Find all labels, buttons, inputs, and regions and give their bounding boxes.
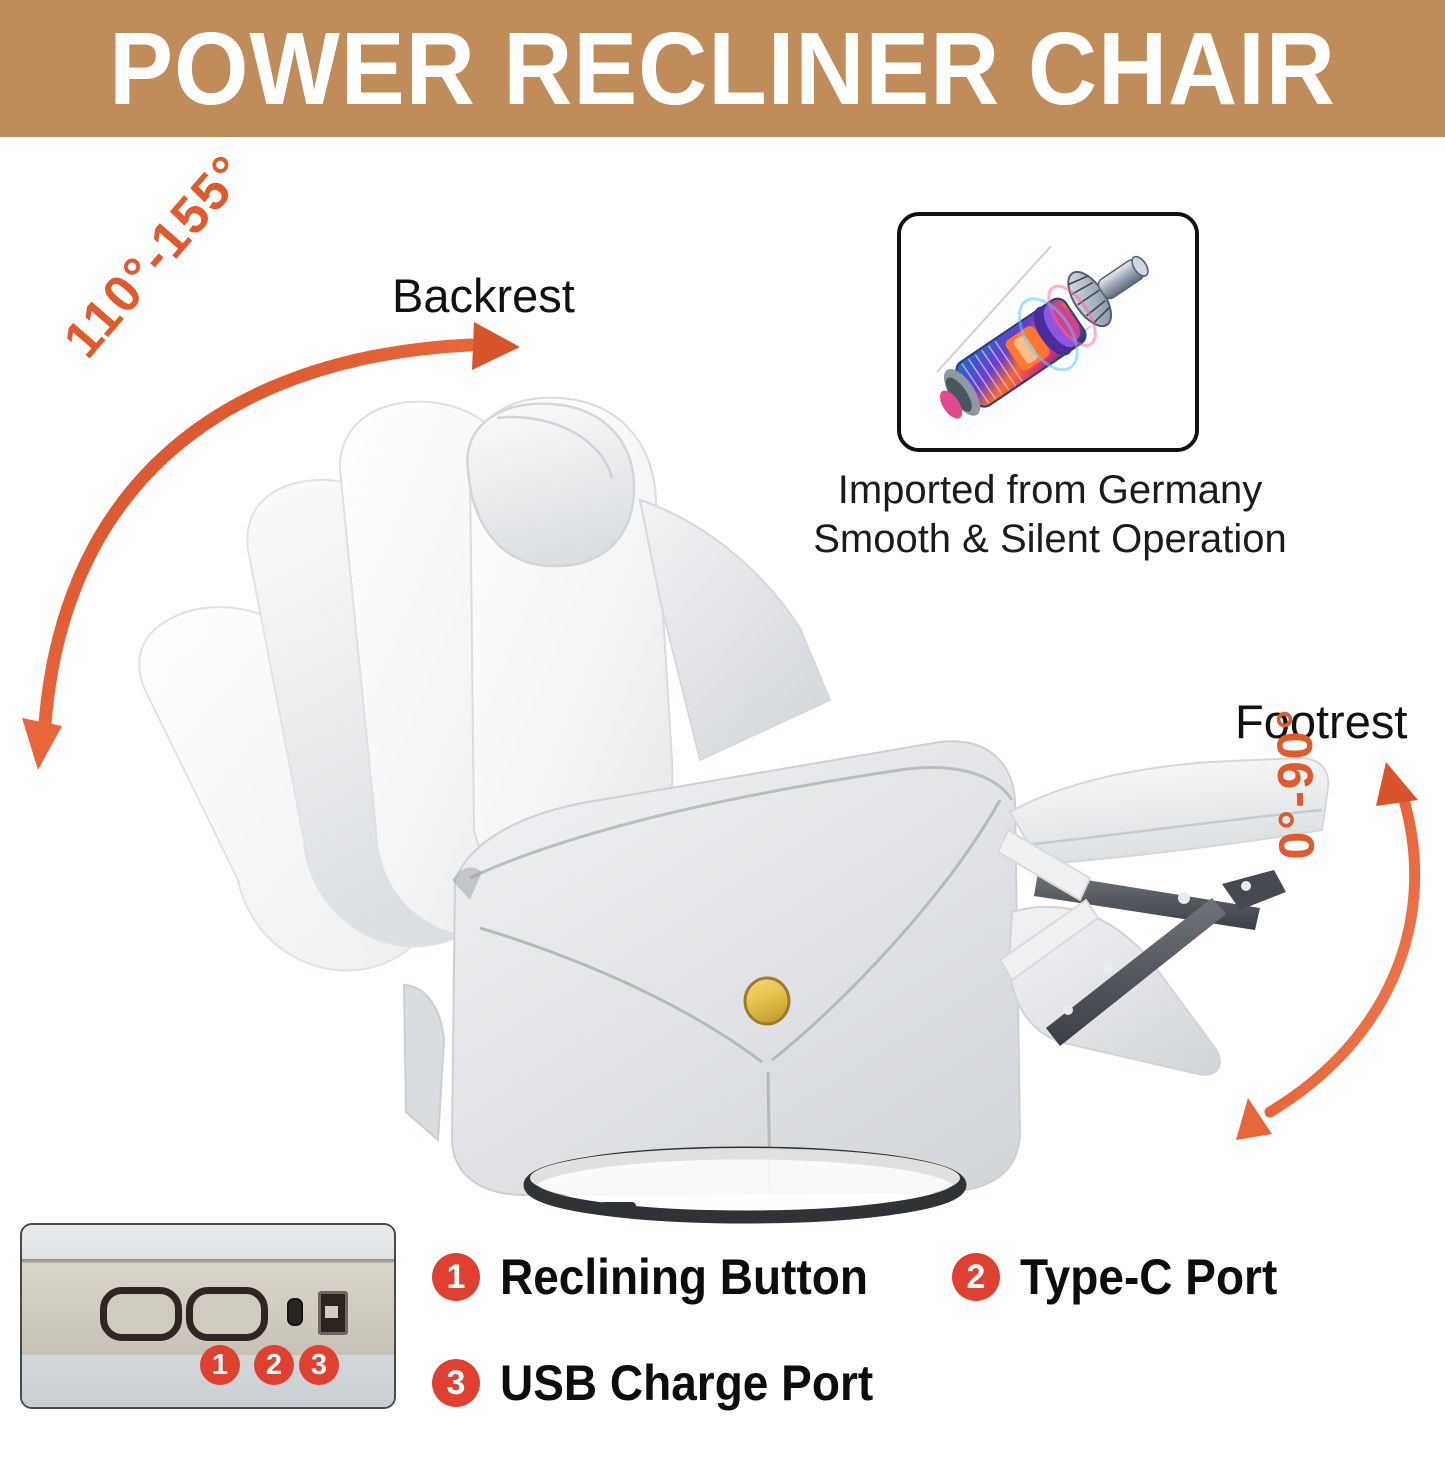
panel-marker-2: 2 [254, 1345, 294, 1385]
backrest-label: Backrest [392, 268, 575, 323]
legend-item-reclining-button: 1 Reclining Button [432, 1248, 952, 1306]
usb-a-port-icon[interactable] [318, 1291, 348, 1335]
backrest-ghost-positions [139, 402, 560, 971]
legend-badge-1: 1 [432, 1253, 480, 1301]
legend-badge-2: 2 [952, 1253, 1000, 1301]
panel-fabric-upper [22, 1225, 394, 1259]
recline-button-up[interactable] [100, 1287, 182, 1341]
legend-row-1: 1 Reclining Button 2 Type-C Port [432, 1248, 1422, 1306]
panel-marker-1: 1 [200, 1345, 240, 1385]
page-title: POWER RECLINER CHAIR [109, 17, 1336, 120]
backrest-angle-label: 110°-155° [52, 143, 260, 369]
legend-item-type-c-port: 2 Type-C Port [952, 1248, 1300, 1306]
footrest-angle-arc [1236, 762, 1418, 1140]
legend-label-2: Type-C Port [1020, 1248, 1277, 1306]
swivel-base [530, 1148, 960, 1217]
motor-caption: Imported from Germany Smooth & Silent Op… [760, 466, 1340, 564]
panel-marker-3: 3 [299, 1345, 339, 1385]
header-banner: POWER RECLINER CHAIR [0, 0, 1445, 137]
infographic-root: POWER RECLINER CHAIR [0, 0, 1445, 1445]
legend-label-3: USB Charge Port [500, 1354, 873, 1412]
motor-caption-line-2: Smooth & Silent Operation [760, 515, 1340, 564]
recline-button-down[interactable] [186, 1287, 268, 1341]
motor-image-box [897, 212, 1199, 452]
legend-item-usb-charge-port: 3 USB Charge Port [432, 1354, 952, 1412]
legend-badge-3: 3 [432, 1359, 480, 1407]
legend-label-1: Reclining Button [500, 1248, 868, 1306]
electric-motor-cutaway-icon [901, 216, 1195, 448]
control-panel-photo: 1 2 3 [20, 1223, 396, 1409]
type-c-port-icon[interactable] [287, 1298, 303, 1326]
legend-row-2: 3 USB Charge Port [432, 1354, 1422, 1412]
gold-accent-button [745, 978, 789, 1024]
legend: 1 Reclining Button 2 Type-C Port 3 USB C… [432, 1248, 1422, 1460]
backrest-angle-arc [22, 322, 520, 770]
motor-caption-line-1: Imported from Germany [760, 466, 1340, 515]
chair-seat-body [404, 741, 1020, 1195]
footrest-angle-label: 0°-90° [1265, 707, 1326, 860]
